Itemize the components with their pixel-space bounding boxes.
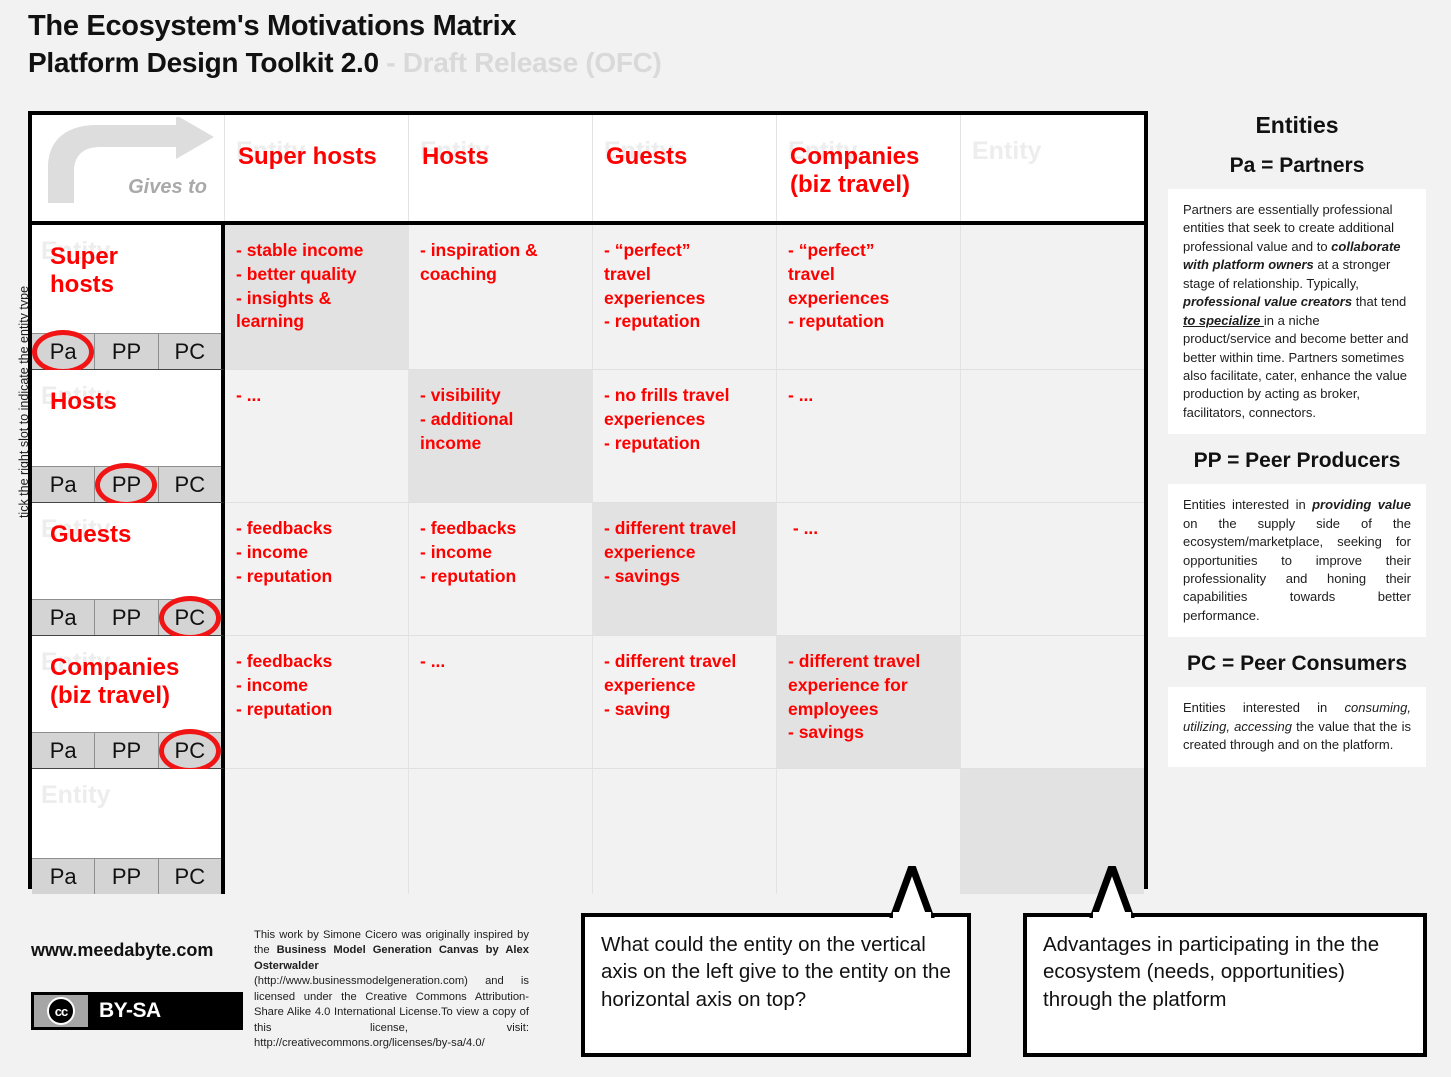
matrix-cell-r3-c4[interactable] <box>961 636 1144 769</box>
matrix-cell-text: - “perfect” travel experiences - reputat… <box>788 240 889 331</box>
site-url[interactable]: www.meedabyte.com <box>31 940 213 961</box>
cc-license-label: BY-SA <box>99 999 161 1023</box>
row-header-3[interactable]: EntityCompanies (biz travel)PaPPPC <box>32 636 225 769</box>
callout-advantages: Advantages in participating in the the e… <box>1023 913 1427 1057</box>
entity-type-slots-4: PaPPPC <box>32 858 221 894</box>
matrix-cell-r1-c2[interactable]: - no frills travel experiences - reputat… <box>593 370 777 503</box>
matrix-cell-text: - different travel experience - saving <box>604 651 736 719</box>
matrix-cell-r2-c1[interactable]: - feedbacks - income - reputation <box>409 503 593 636</box>
entities-panel: Entities Pa = PartnersPartners are essen… <box>1168 112 1426 767</box>
entity-type-slots-0: PaPPPC <box>32 333 221 369</box>
matrix-cell-text: - “perfect” travel experiences - reputat… <box>604 240 705 331</box>
matrix-body: EntitySuper hostsPaPPPC- stable income -… <box>32 225 1144 894</box>
column-label-1: Hosts <box>422 143 588 171</box>
matrix-cell-r1-c0[interactable]: - ... <box>225 370 409 503</box>
entity-heading-1: PP = Peer Producers <box>1168 448 1426 475</box>
row-header-4[interactable]: EntityPaPPPC <box>32 769 225 894</box>
entity-slot-pc[interactable]: PC <box>159 334 221 369</box>
matrix-cell-r3-c1[interactable]: - ... <box>409 636 593 769</box>
matrix-row: EntitySuper hostsPaPPPC- stable income -… <box>32 225 1144 370</box>
column-header-1[interactable]: Entity Hosts <box>409 115 593 221</box>
column-label-2: Guests <box>606 143 772 171</box>
entity-type-slots-3: PaPPPC <box>32 732 221 768</box>
matrix-corner-cell: Gives to <box>32 115 225 221</box>
entity-description-0: Partners are essentially professional en… <box>1168 189 1426 434</box>
gives-to-label: Gives to <box>128 176 207 199</box>
entities-panel-title: Entities <box>1168 112 1426 139</box>
selected-slot-ring-icon <box>159 596 221 640</box>
matrix-cell-text: - ... <box>420 651 445 671</box>
matrix-row: EntityGuestsPaPPPC- feedbacks - income -… <box>32 503 1144 636</box>
entity-slot-pp[interactable]: PP <box>95 334 158 369</box>
entity-slot-pc[interactable]: PC <box>159 467 221 502</box>
callout-vertical-axis: What could the entity on the vertical ax… <box>581 913 971 1057</box>
title-block: The Ecosystem's Motivations Matrix Platf… <box>28 8 662 81</box>
matrix-cell-r0-c3[interactable]: - “perfect” travel experiences - reputat… <box>777 225 961 370</box>
callout-2-text: Advantages in participating in the the e… <box>1043 933 1379 1011</box>
matrix-cell-r2-c2[interactable]: - different travel experience - savings <box>593 503 777 636</box>
entity-slot-pa[interactable]: Pa <box>32 859 95 894</box>
entity-slot-pa[interactable]: Pa <box>32 467 95 502</box>
row-ghost-label-4: Entity <box>41 781 110 810</box>
row-label-2: Guests <box>50 521 217 549</box>
entity-description-2: Entities interested in consuming, utiliz… <box>1168 687 1426 766</box>
entity-slot-pa[interactable]: Pa <box>32 334 95 369</box>
matrix-cell-r3-c3[interactable]: - different travel experience for employ… <box>777 636 961 769</box>
matrix-cell-text: - ... <box>788 518 818 538</box>
matrix-row: EntityHostsPaPPPC- ...- visibility - add… <box>32 370 1144 503</box>
subtitle-draft-tag: - Draft Release (OFC) <box>379 47 662 78</box>
column-header-3[interactable]: Entity Companies (biz travel) <box>777 115 961 221</box>
entity-slot-pc[interactable]: PC <box>159 600 221 635</box>
column-label-3: Companies (biz travel) <box>790 143 956 200</box>
matrix-cell-text: - different travel experience for employ… <box>788 651 920 742</box>
subtitle-main: Platform Design Toolkit 2.0 <box>28 47 379 78</box>
matrix-cell-text: - feedbacks - income - reputation <box>236 651 332 719</box>
cc-logo-icon: cc <box>34 995 88 1027</box>
selected-slot-ring-icon <box>32 330 94 374</box>
column-ghost-label-4: Entity <box>972 137 1041 166</box>
callout-tail-icon-1 <box>875 866 949 918</box>
matrix-cell-text: - stable income - better quality - insig… <box>236 240 363 331</box>
matrix-cell-r1-c3[interactable]: - ... <box>777 370 961 503</box>
row-header-1[interactable]: EntityHostsPaPPPC <box>32 370 225 503</box>
entity-slot-pp[interactable]: PP <box>95 859 158 894</box>
matrix-cell-r0-c2[interactable]: - “perfect” travel experiences - reputat… <box>593 225 777 370</box>
entity-slot-pp[interactable]: PP <box>95 467 158 502</box>
column-label-0: Super hosts <box>238 143 404 171</box>
column-header-2[interactable]: Entity Guests <box>593 115 777 221</box>
page-title: The Ecosystem's Motivations Matrix <box>28 8 662 45</box>
poster-canvas: The Ecosystem's Motivations Matrix Platf… <box>0 0 1451 1077</box>
cc-license-badge[interactable]: cc BY-SA <box>31 992 243 1030</box>
matrix-cell-r0-c0[interactable]: - stable income - better quality - insig… <box>225 225 409 370</box>
matrix-cell-r0-c1[interactable]: - inspiration & coaching <box>409 225 593 370</box>
attribution-text: This work by Simone Cicero was originall… <box>254 928 529 1052</box>
matrix-row: EntityPaPPPC <box>32 769 1144 894</box>
matrix-cell-r4-c2[interactable] <box>593 769 777 894</box>
matrix-header-row: Gives to Entity Super hosts Entity Hosts… <box>32 115 1144 225</box>
matrix-cell-r2-c3[interactable]: - ... <box>777 503 961 636</box>
entity-type-slots-1: PaPPPC <box>32 466 221 502</box>
row-label-3: Companies (biz travel) <box>50 654 217 711</box>
row-header-2[interactable]: EntityGuestsPaPPPC <box>32 503 225 636</box>
matrix-cell-r4-c1[interactable] <box>409 769 593 894</box>
entity-type-slots-2: PaPPPC <box>32 599 221 635</box>
matrix-cell-r1-c4[interactable] <box>961 370 1144 503</box>
entity-slot-pa[interactable]: Pa <box>32 733 95 768</box>
motivations-matrix: Gives to Entity Super hosts Entity Hosts… <box>28 111 1148 889</box>
matrix-cell-r2-c0[interactable]: - feedbacks - income - reputation <box>225 503 409 636</box>
matrix-cell-text: - no frills travel experiences - reputat… <box>604 385 729 453</box>
page-subtitle: Platform Design Toolkit 2.0 - Draft Rele… <box>28 45 662 81</box>
matrix-cell-text: - different travel experience - savings <box>604 518 736 586</box>
entity-heading-0: Pa = Partners <box>1168 153 1426 180</box>
matrix-cell-r2-c4[interactable] <box>961 503 1144 636</box>
entity-heading-2: PC = Peer Consumers <box>1168 651 1426 678</box>
matrix-cell-text: - feedbacks - income - reputation <box>420 518 516 586</box>
matrix-cell-r3-c0[interactable]: - feedbacks - income - reputation <box>225 636 409 769</box>
entity-slot-pc[interactable]: PC <box>159 733 221 768</box>
row-label-0: Super hosts <box>50 243 217 300</box>
column-header-4[interactable]: Entity <box>961 115 1144 221</box>
matrix-cell-text: - ... <box>236 385 261 405</box>
matrix-cell-r4-c0[interactable] <box>225 769 409 894</box>
entity-slot-pc[interactable]: PC <box>159 859 221 894</box>
row-label-1: Hosts <box>50 388 217 416</box>
callout-tail-icon-2 <box>1075 866 1149 918</box>
cc-mark-label: cc <box>47 997 75 1025</box>
entity-slot-pp[interactable]: PP <box>95 733 158 768</box>
matrix-cell-r1-c1[interactable]: - visibility - additional income <box>409 370 593 503</box>
matrix-cell-text: - feedbacks - income - reputation <box>236 518 332 586</box>
matrix-cell-text: - inspiration & coaching <box>420 240 538 284</box>
entities-list: Pa = PartnersPartners are essentially pr… <box>1168 153 1426 767</box>
matrix-row: EntityCompanies (biz travel)PaPPPC- feed… <box>32 636 1144 769</box>
callout-1-text: What could the entity on the vertical ax… <box>601 933 951 1011</box>
column-header-0[interactable]: Entity Super hosts <box>225 115 409 221</box>
selected-slot-ring-icon <box>159 729 221 773</box>
row-header-0[interactable]: EntitySuper hostsPaPPPC <box>32 225 225 370</box>
matrix-cell-text: - ... <box>788 385 813 405</box>
matrix-cell-r0-c4[interactable] <box>961 225 1144 370</box>
selected-slot-ring-icon <box>95 463 157 507</box>
entity-slot-pa[interactable]: Pa <box>32 600 95 635</box>
matrix-cell-text: - visibility - additional income <box>420 385 513 453</box>
matrix-cell-r3-c2[interactable]: - different travel experience - saving <box>593 636 777 769</box>
entity-description-1: Entities interested in providing value o… <box>1168 484 1426 637</box>
entity-slot-pp[interactable]: PP <box>95 600 158 635</box>
